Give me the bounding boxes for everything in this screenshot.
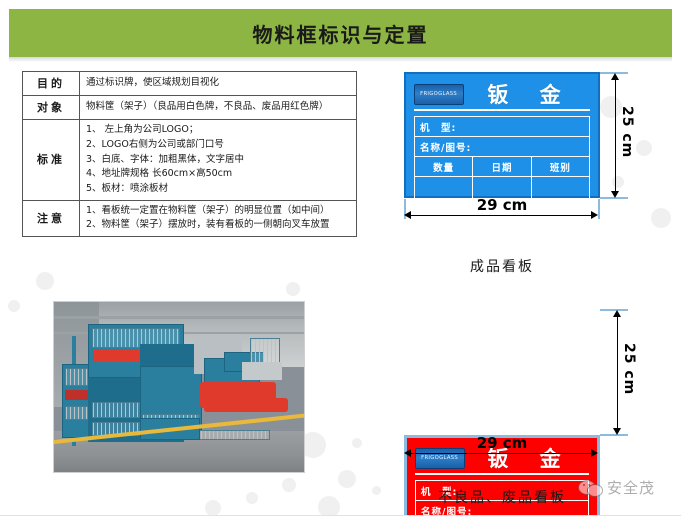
arrow-up-icon [611, 73, 619, 80]
field-row-model: 机 型: [415, 117, 589, 137]
arrow-down-icon [611, 191, 619, 198]
row-label: 注意 [23, 200, 80, 236]
company-logo-icon: FRIGOGLASS [414, 84, 464, 105]
width-dimension-line [409, 453, 595, 454]
text-line: 4、地址牌规格 长60cm×高50cm [86, 167, 350, 182]
field-row-headers: 数量 日期 班别 [415, 157, 589, 177]
width-dimension-label: 29 cm [404, 196, 600, 214]
col-header-shift: 班别 [532, 157, 589, 176]
text-line: 3、白底、字体：加粗黑体，文字居中 [86, 153, 350, 168]
table-row: 注意 1、看板统一定置在物料筐（架子）的明显位置（如中间） 2、物料筐（架子）摆… [23, 200, 357, 236]
width-dimension-line [409, 215, 595, 216]
text-line: 2、物料筐（架子）摆放时，装有看板的一侧朝向叉车放置 [86, 218, 350, 233]
finished-goods-caption: 成品看板 [404, 256, 600, 276]
finished-goods-board: FRIGOGLASS 钣 金 机 型: 名称/图号: 数量 日期 班别 [404, 72, 600, 198]
row-value: 1、 左上角为公司LOGO； 2、LOGO右侧为公司或部门口号 3、白底、字体：… [80, 120, 357, 201]
watermark: 安全茂 [578, 477, 655, 498]
row-value: 物料筐（架子）（良品用白色牌，不良品、废品用红色牌） [80, 96, 357, 120]
board-fields-grid: 机 型: 名称/图号: 数量 日期 班别 [414, 116, 590, 200]
height-dimension-line [617, 313, 618, 431]
width-dimension-label: 29 cm [404, 434, 600, 452]
row-label: 对象 [23, 96, 80, 120]
name-label: 名称/图号: [415, 137, 589, 156]
page-title: 物料框标识与定置 [253, 19, 429, 48]
height-dimension-line [615, 76, 616, 194]
row-value: 1、看板统一定置在物料筐（架子）的明显位置（如中间） 2、物料筐（架子）摆放时，… [80, 200, 357, 236]
table-row: 目的 通过标识牌，使区域规划目视化 [23, 72, 357, 96]
board-title: 钣 金 [464, 79, 590, 109]
watermark-text: 安全茂 [607, 477, 655, 498]
header-shadow [9, 57, 672, 62]
height-dimension-label: 25 cm [619, 106, 635, 158]
text-line: 1、 左上角为公司LOGO； [86, 123, 350, 138]
row-label: 标准 [23, 120, 80, 201]
row-value: 通过标识牌，使区域规划目视化 [80, 72, 357, 96]
col-header-qty: 数量 [415, 157, 473, 176]
row-label: 目的 [23, 72, 80, 96]
text-line: 5、板材：喷涂板材 [86, 182, 350, 197]
arrow-up-icon [613, 310, 621, 317]
logo-text: FRIGOGLASS [421, 91, 458, 97]
bottom-strip [0, 515, 681, 522]
col-header-date: 日期 [473, 157, 531, 176]
wechat-bubble-icon [578, 478, 604, 498]
model-label: 机 型: [415, 117, 589, 136]
table-row: 标准 1、 左上角为公司LOGO； 2、LOGO右侧为公司或部门口号 3、白底、… [23, 120, 357, 201]
workshop-photo [53, 301, 305, 473]
text-line: 物料筐（架子）（良品用白色牌，不良品、废品用红色牌） [86, 100, 350, 115]
text-line: 通过标识牌，使区域规划目视化 [86, 76, 350, 91]
height-dimension-label: 25 cm [621, 343, 637, 395]
slide-canvas: 物料框标识与定置 目的 通过标识牌，使区域规划目视化 对象 物料筐（架子）（良品… [0, 0, 681, 522]
text-line: 2、LOGO右侧为公司或部门口号 [86, 138, 350, 153]
text-line: 1、看板统一定置在物料筐（架子）的明显位置（如中间） [86, 204, 350, 219]
table-row: 对象 物料筐（架子）（良品用白色牌，不良品、废品用红色牌） [23, 96, 357, 120]
board-header: FRIGOGLASS 钣 金 [414, 79, 590, 111]
arrow-down-icon [613, 428, 621, 435]
slide-header-bar: 物料框标识与定置 [9, 9, 672, 57]
specification-table: 目的 通过标识牌，使区域规划目视化 对象 物料筐（架子）（良品用白色牌，不良品、… [22, 71, 357, 237]
field-row-name: 名称/图号: [415, 137, 589, 157]
logo-text: FRIGOGLASS [422, 455, 459, 461]
